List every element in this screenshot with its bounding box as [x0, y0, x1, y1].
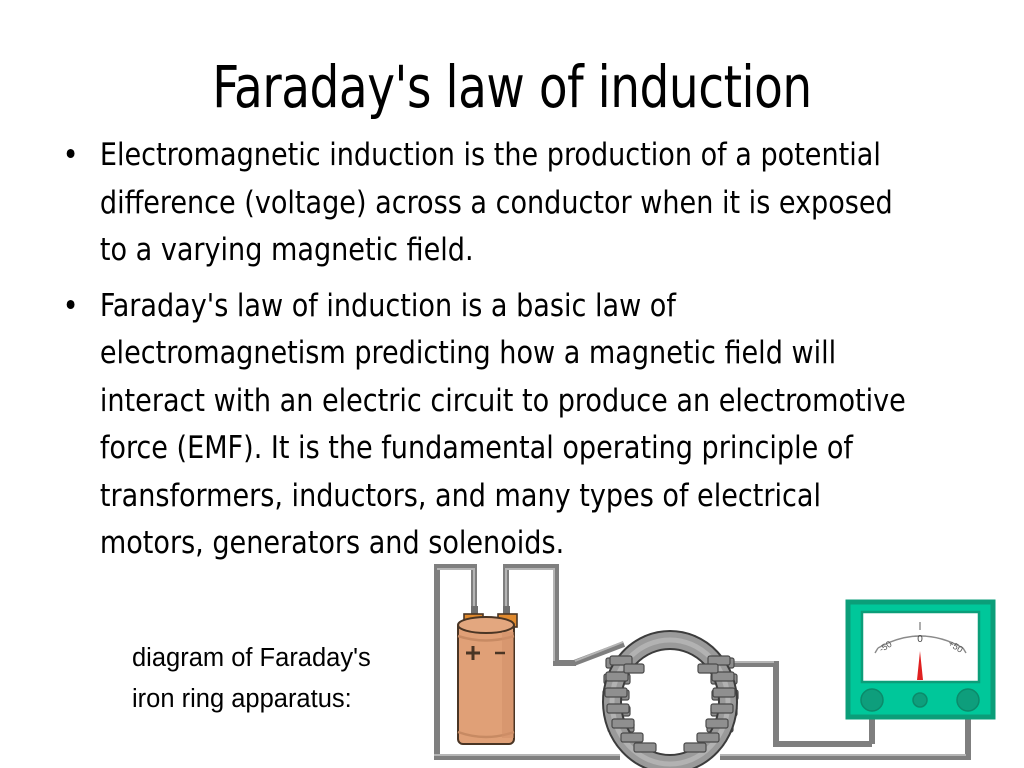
- slide-canvas: Faraday's law of induction • Electromagn…: [0, 0, 1024, 768]
- bullet-text-1: Electromagnetic induction is the product…: [100, 132, 915, 275]
- bullet-marker-icon: •: [63, 283, 79, 331]
- diagram-caption: diagram of Faraday's iron ring apparatus…: [132, 638, 442, 720]
- faraday-iron-ring-diagram: -50 0 +50: [420, 552, 1024, 768]
- meter-terminal-center: [913, 693, 927, 707]
- meter-terminals: [861, 689, 979, 711]
- meter-terminal-left: [861, 689, 883, 711]
- galvanometer: -50 0 +50: [848, 602, 993, 717]
- bullet-item-2: • Faraday's law of induction is a basic …: [55, 283, 915, 568]
- meter-scale-center: 0: [917, 634, 923, 645]
- caption-line-1: diagram of Faraday's: [132, 638, 442, 679]
- bullet-marker-icon: •: [63, 132, 79, 180]
- wire-bottom-rail-right: [720, 717, 968, 757]
- bullet-list: • Electromagnetic induction is the produ…: [55, 132, 955, 576]
- caption-line-2: iron ring apparatus:: [132, 679, 442, 720]
- iron-ring: [603, 640, 738, 764]
- battery-top-cap: [458, 617, 514, 633]
- page-title: Faraday's law of induction: [51, 55, 973, 119]
- bullet-item-1: • Electromagnetic induction is the produ…: [55, 132, 915, 275]
- bullet-text-2: Faraday's law of induction is a basic la…: [100, 283, 915, 568]
- battery-shade: [502, 632, 514, 738]
- battery: [458, 606, 517, 744]
- coil-windings-top: [624, 664, 718, 673]
- meter-terminal-right: [957, 689, 979, 711]
